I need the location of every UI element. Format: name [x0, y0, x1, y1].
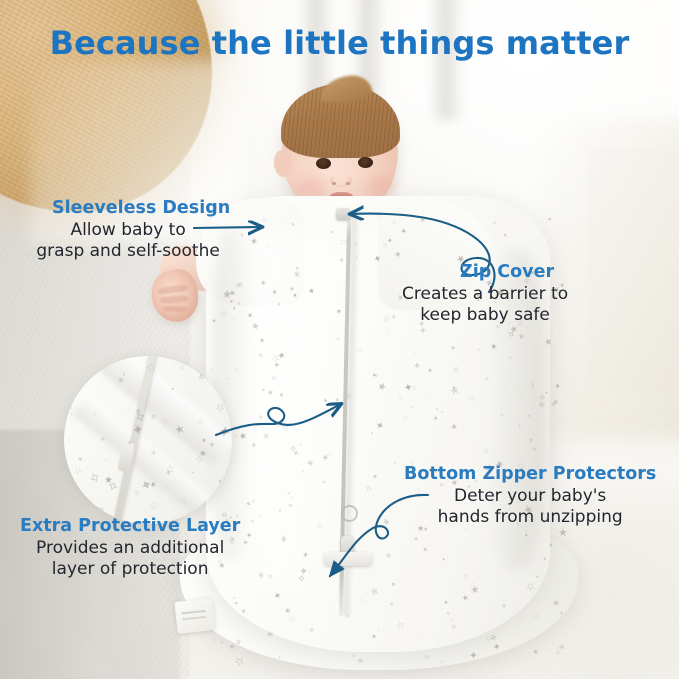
- top-zipper-cover: [336, 208, 350, 220]
- star-glyph: ☆: [71, 464, 84, 478]
- annotation-body-line1: Allow baby to: [26, 220, 230, 241]
- care-label-tag: [174, 598, 215, 634]
- star-glyph: ★: [77, 455, 85, 463]
- baby-nostril: [332, 182, 336, 185]
- zipper-detail-inset: ☆✧✧✶✧···✧☆☆··★·✦✧✦✧✦·★☆★✧✧☆✧☆✦✦··✶✶✶✶★✧·…: [64, 356, 232, 524]
- annotation-extra-protective-layer: Extra Protective Layer Provides an addit…: [20, 516, 240, 580]
- baby-ear: [274, 150, 291, 177]
- annotation-title: Sleeveless Design: [26, 198, 230, 220]
- star-glyph: ★: [103, 475, 112, 485]
- baby-nostril: [346, 182, 350, 185]
- annotation-body-line1: Provides an additional: [20, 538, 240, 559]
- annotation-zip-cover: Zip Cover Creates a barrier to keep baby…: [418, 262, 568, 326]
- baby-finger: [163, 306, 187, 313]
- baby-eye: [316, 158, 331, 169]
- star-glyph: ☆: [147, 499, 161, 513]
- annotation-bottom-zipper-protectors: Bottom Zipper Protectors Deter your baby…: [404, 464, 656, 528]
- page-headline: Because the little things matter: [0, 24, 679, 62]
- star-glyph: ·: [102, 456, 108, 466]
- annotation-body-line2: keep baby safe: [402, 305, 568, 326]
- baby-nose: [330, 174, 352, 187]
- bottom-zipper-protector: [324, 552, 372, 566]
- annotation-body-line2: grasp and self-soothe: [26, 241, 230, 262]
- star-glyph: ✧: [86, 468, 105, 488]
- annotation-body-line1: Creates a barrier to: [402, 284, 568, 305]
- star-glyph: ·: [189, 466, 196, 479]
- baby-eye: [358, 157, 373, 168]
- product-infographic: ★☆✦✧·☆☆★✦✦☆✶★✶✦✦·★★✶✧✧✶✧☆✦✧✧☆☆·☆☆·✧·✧☆·★…: [0, 0, 679, 679]
- annotation-body-line2: hands from unzipping: [404, 507, 656, 528]
- annotation-body-line2: layer of protection: [20, 559, 240, 580]
- zipper-ring: [341, 505, 358, 522]
- annotation-sleeveless-design: Sleeveless Design Allow baby to grasp an…: [26, 198, 230, 262]
- annotation-body-line1: Deter your baby's: [404, 486, 656, 507]
- annotation-title: Bottom Zipper Protectors: [404, 464, 656, 486]
- annotation-title: Zip Cover: [418, 262, 568, 284]
- star-glyph: ☆: [178, 363, 185, 371]
- sleep-sack-highlight: [250, 230, 380, 590]
- baby-cheek: [296, 178, 326, 198]
- star-glyph: ✧: [131, 488, 141, 499]
- baby-cheek: [366, 176, 396, 196]
- annotation-title: Extra Protective Layer: [20, 516, 240, 538]
